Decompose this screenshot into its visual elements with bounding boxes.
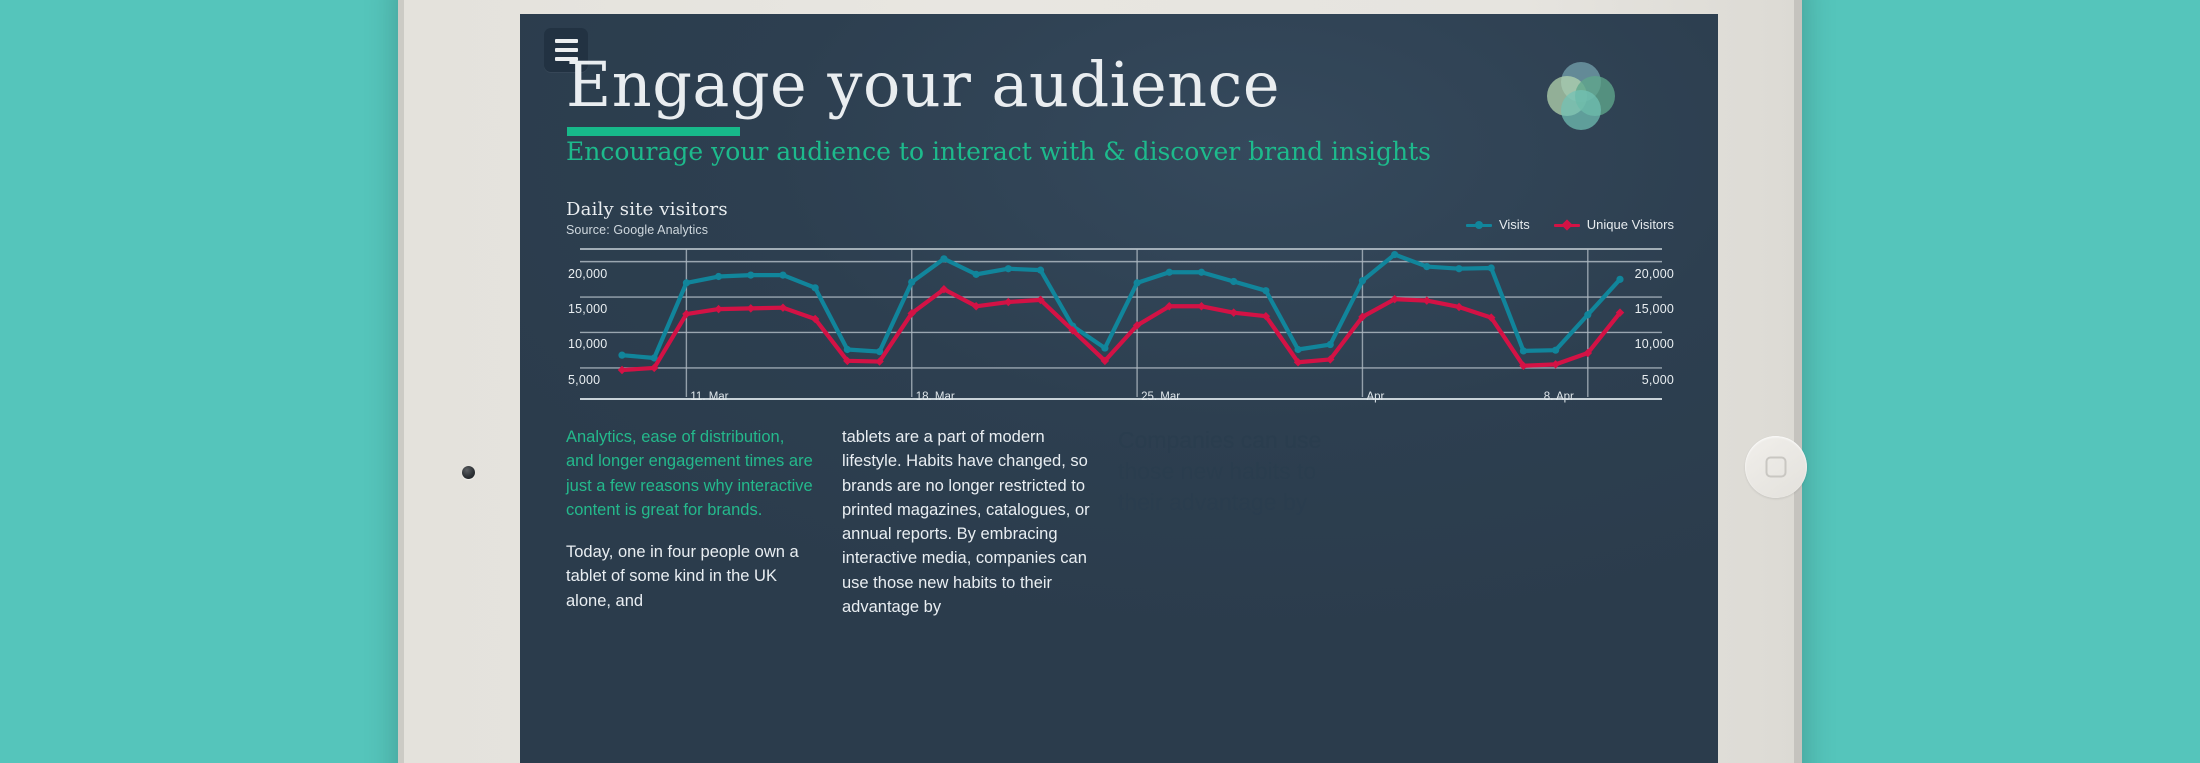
- legend-label-unique-visitors: Unique Visitors: [1587, 217, 1674, 232]
- body-column-3: Companies can use those new habits to th…: [1118, 425, 1366, 637]
- body-paragraph-light-intro: Today, one in four people own a tablet o…: [566, 540, 814, 613]
- chart-legend: Visits Unique Visitors: [1466, 217, 1674, 232]
- x-axis-tick: Apr: [1366, 391, 1384, 403]
- legend-marker-unique-visitors-icon: [1554, 220, 1580, 229]
- tablet-left-edge: [398, 0, 404, 763]
- x-axis-tick: 8. Apr: [1544, 391, 1574, 403]
- legend-label-visits: Visits: [1499, 217, 1530, 232]
- y-axis-tick-right: 15,000: [1635, 302, 1674, 316]
- x-axis-tick: 25. Mar: [1141, 391, 1180, 403]
- home-square-icon: [1766, 457, 1787, 478]
- body-paragraph-accent: Analytics, ease of distribution, and lon…: [566, 425, 814, 522]
- page-title: Engage your audience: [566, 52, 1280, 117]
- camera-dot-icon: [462, 466, 475, 479]
- legend-item-unique-visitors[interactable]: Unique Visitors: [1554, 217, 1674, 232]
- y-axis-tick-left: 15,000: [568, 302, 607, 316]
- y-axis-tick-left: 10,000: [568, 337, 607, 351]
- body-paragraph-dim: Companies can use those new habits to th…: [1118, 425, 1366, 518]
- home-button[interactable]: [1745, 436, 1807, 498]
- body-column-2: tablets are a part of modern lifestyle. …: [842, 425, 1090, 637]
- x-axis-tick: 18. Mar: [916, 391, 955, 403]
- page-subtitle: Encourage your audience to interact with…: [566, 137, 1431, 166]
- four-overlapping-circles-logo: [1544, 59, 1618, 133]
- legend-marker-visits-icon: [1466, 220, 1492, 229]
- tablet-right-edge: [1794, 0, 1802, 763]
- x-axis-tick: 11. Mar: [690, 391, 728, 403]
- y-axis-tick-right: 5,000: [1642, 373, 1674, 387]
- y-axis-tick-right: 10,000: [1635, 337, 1674, 351]
- body-paragraph-light: tablets are a part of modern lifestyle. …: [842, 425, 1090, 619]
- y-axis-tick-left: 20,000: [568, 267, 607, 281]
- screenshot-stage: Engage your audience Encourage your audi…: [0, 0, 2200, 763]
- hamburger-bar-1: [555, 39, 578, 43]
- y-axis-tick-left: 5,000: [568, 373, 600, 387]
- body-column-1: Analytics, ease of distribution, and lon…: [566, 425, 814, 637]
- tablet-screen: Engage your audience Encourage your audi…: [520, 14, 1718, 763]
- chart-plot-area: 5,00010,00015,00020,000 5,00010,00015,00…: [566, 247, 1676, 411]
- legend-item-visits[interactable]: Visits: [1466, 217, 1530, 232]
- chart-container: Daily site visitors Source: Google Analy…: [566, 199, 1676, 411]
- title-accent-rule: [567, 127, 740, 136]
- chart-svg: [566, 247, 1676, 411]
- body-columns: Analytics, ease of distribution, and lon…: [566, 425, 1676, 637]
- y-axis-tick-right: 20,000: [1635, 267, 1674, 281]
